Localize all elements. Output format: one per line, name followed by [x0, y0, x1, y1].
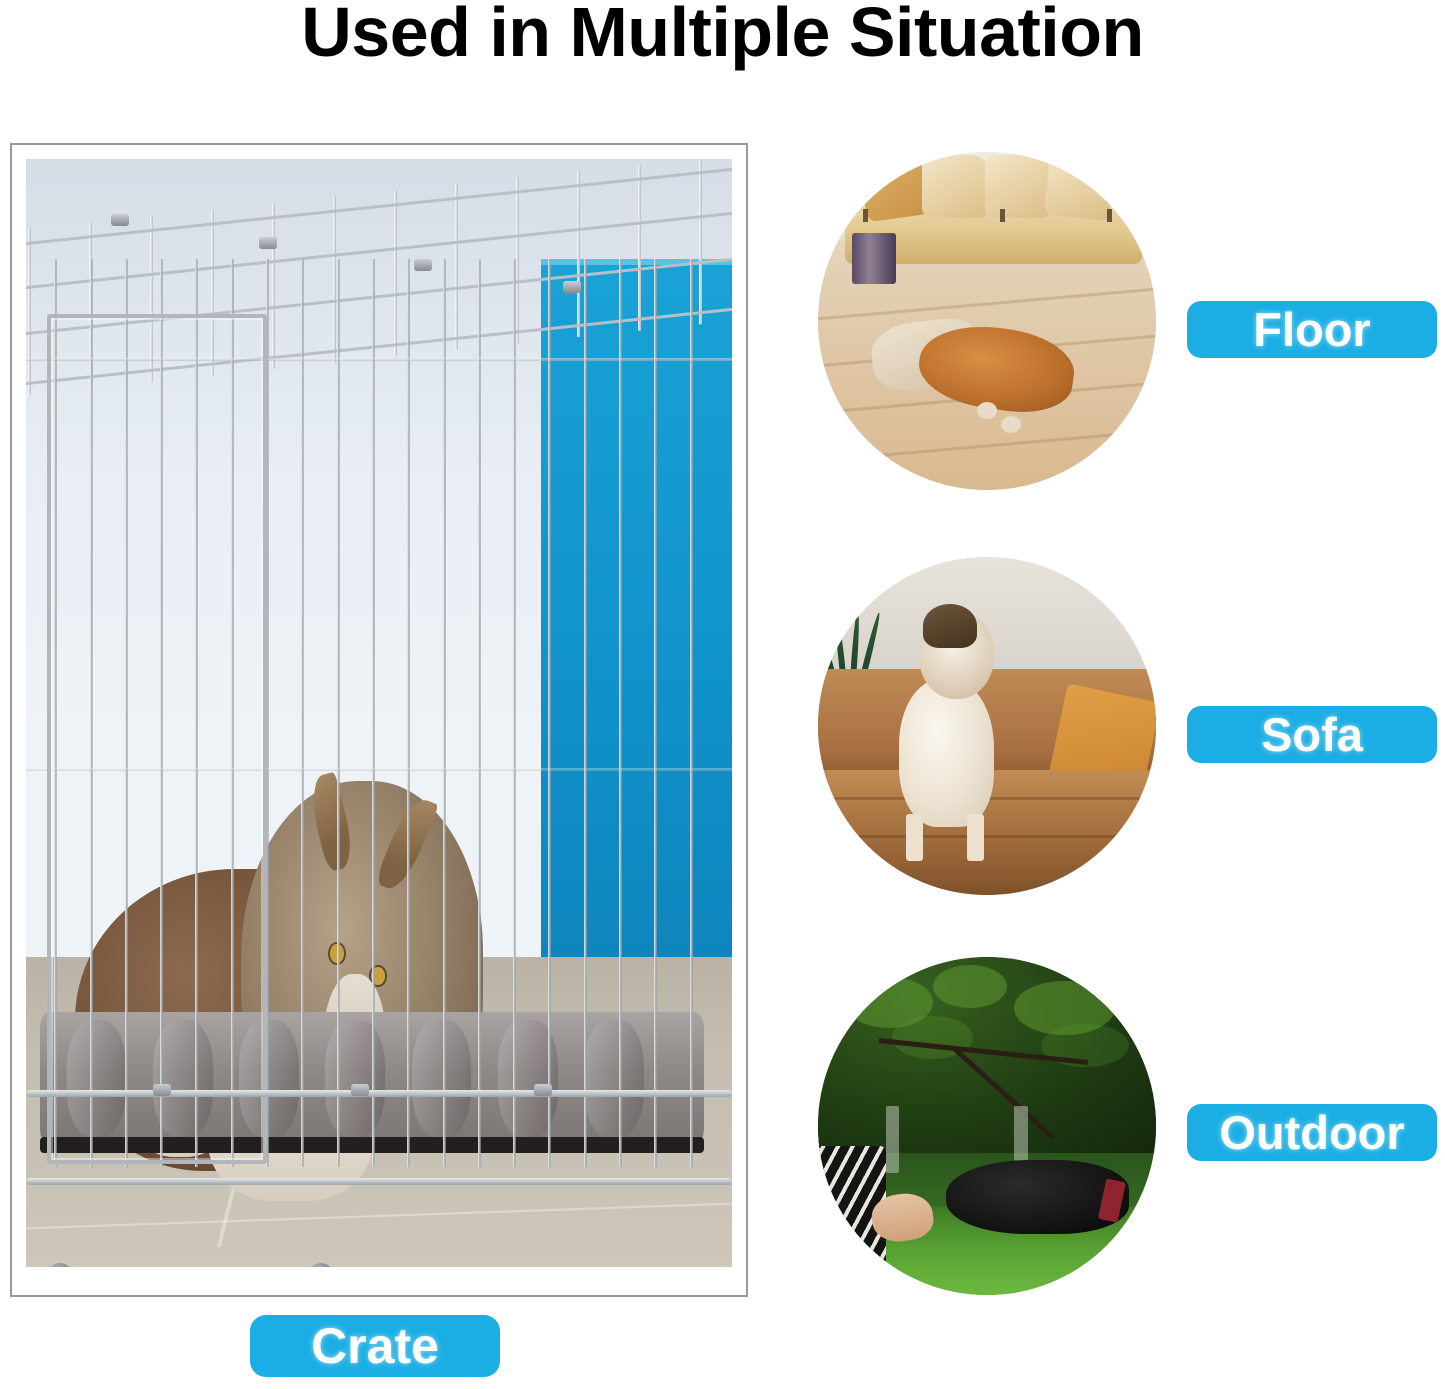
sofa-cushion [1044, 152, 1116, 221]
crate-caster [308, 1263, 334, 1267]
badge-sofa-label: Sofa [1261, 707, 1363, 762]
wire-crate [26, 159, 732, 1267]
crate-door [47, 314, 267, 1164]
sofa-cushion [922, 155, 987, 218]
dog-doodle-body [899, 679, 994, 828]
dog-doodle-ears [923, 604, 977, 648]
tree-canopy [818, 957, 1156, 1153]
badge-floor: Floor [1187, 301, 1437, 358]
sofa-cushion [859, 152, 933, 222]
crate-photo [26, 159, 732, 1267]
page-title: Used in Multiple Situation [0, 0, 1445, 74]
sofa-cushion [985, 155, 1050, 218]
badge-crate: Crate [250, 1315, 500, 1377]
badge-crate-label: Crate [311, 1317, 439, 1375]
badge-outdoor-label: Outdoor [1219, 1105, 1404, 1160]
crate-caster [47, 1263, 73, 1267]
crate-photo-frame [10, 143, 748, 1297]
situation-photo-sofa [818, 557, 1156, 895]
badge-outdoor: Outdoor [1187, 1104, 1437, 1161]
badge-sofa: Sofa [1187, 706, 1437, 763]
waste-bin [852, 233, 896, 284]
badge-floor-label: Floor [1253, 302, 1370, 357]
situation-photo-outdoor [818, 957, 1156, 1295]
crate-rail [26, 1090, 732, 1097]
crate-rail [26, 1178, 732, 1185]
situation-photo-floor [818, 152, 1156, 490]
